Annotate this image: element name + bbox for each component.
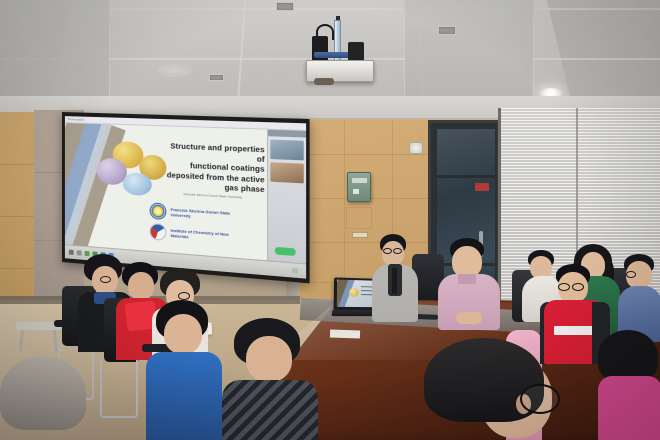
glasses-icon <box>520 384 560 414</box>
slide-content: Structure and properties of functional c… <box>65 123 267 260</box>
conference-room-photo: Presentation Structure and properties of <box>0 0 660 440</box>
control-box-display <box>352 178 367 183</box>
glasses-icon <box>558 283 570 291</box>
torso-patterned-shirt <box>222 380 318 440</box>
shirt-collar <box>458 274 476 284</box>
projector-lens <box>314 78 334 85</box>
documents-secondary <box>330 329 360 338</box>
hair <box>0 356 86 430</box>
torso-blue-jacket <box>146 352 222 440</box>
join-call-button[interactable] <box>275 247 296 256</box>
organization-name-institute: Institute of Chemistry of New Materials <box>171 228 245 244</box>
ceiling-vent-2 <box>438 26 456 35</box>
person-audience-blue-jacket <box>146 300 222 440</box>
person-foreground-head-glasses <box>424 338 564 440</box>
person-foreground-gray-hair <box>0 356 92 440</box>
organization-row-university: Francisk Skorina Gomel State University <box>150 202 245 225</box>
glasses-icon <box>178 292 190 300</box>
participant-thumbnail-1[interactable] <box>270 140 303 161</box>
wall-outlet <box>352 232 368 238</box>
glasses-right-lens <box>572 283 584 291</box>
organization-name-university: Francisk Skorina Gomel State University <box>171 207 245 222</box>
hair <box>598 330 658 382</box>
necktie <box>392 268 397 294</box>
ceiling-vent-3 <box>209 74 224 81</box>
person-audience-patterned-shirt <box>222 318 318 440</box>
person-presenter-gray-blazer <box>372 234 418 320</box>
wall-speaker <box>409 142 423 154</box>
tshirt-graphic <box>554 326 594 335</box>
slide-title: Structure and properties of functional c… <box>162 141 265 195</box>
wall-access-panel <box>346 207 372 229</box>
person-blue-shirt-right <box>618 254 660 340</box>
glasses-icon <box>626 271 636 278</box>
participant-thumbnail-2[interactable] <box>270 162 303 183</box>
glasses-icon <box>100 276 111 283</box>
wall-control-box[interactable] <box>347 172 371 202</box>
video-conference-sidebar[interactable] <box>267 130 306 264</box>
head <box>128 272 154 300</box>
head <box>246 336 292 382</box>
clasped-hands <box>456 312 482 324</box>
head <box>164 314 202 354</box>
projector-bracket-right <box>348 42 364 62</box>
ceiling-vent-1 <box>276 2 294 11</box>
sun-emblem-logo <box>150 202 167 220</box>
sphere-blue <box>123 172 152 196</box>
door-sign <box>475 183 489 191</box>
glasses-right-lens <box>393 248 402 254</box>
person-audience-pink-bottom-right <box>598 330 660 440</box>
torso-pink <box>598 376 660 440</box>
control-box-button[interactable] <box>353 189 359 194</box>
ceiling-projector <box>296 16 384 88</box>
start-icon[interactable] <box>69 250 74 255</box>
glasses-icon <box>383 248 392 254</box>
swirl-emblem-logo <box>150 223 167 241</box>
organization-row-institute: Institute of Chemistry of New Materials <box>150 223 245 247</box>
video-panel-header <box>268 130 306 138</box>
ceiling-vent-round <box>158 64 192 77</box>
person-man-pink-shirt <box>438 238 500 328</box>
chat-icon[interactable] <box>292 268 298 274</box>
